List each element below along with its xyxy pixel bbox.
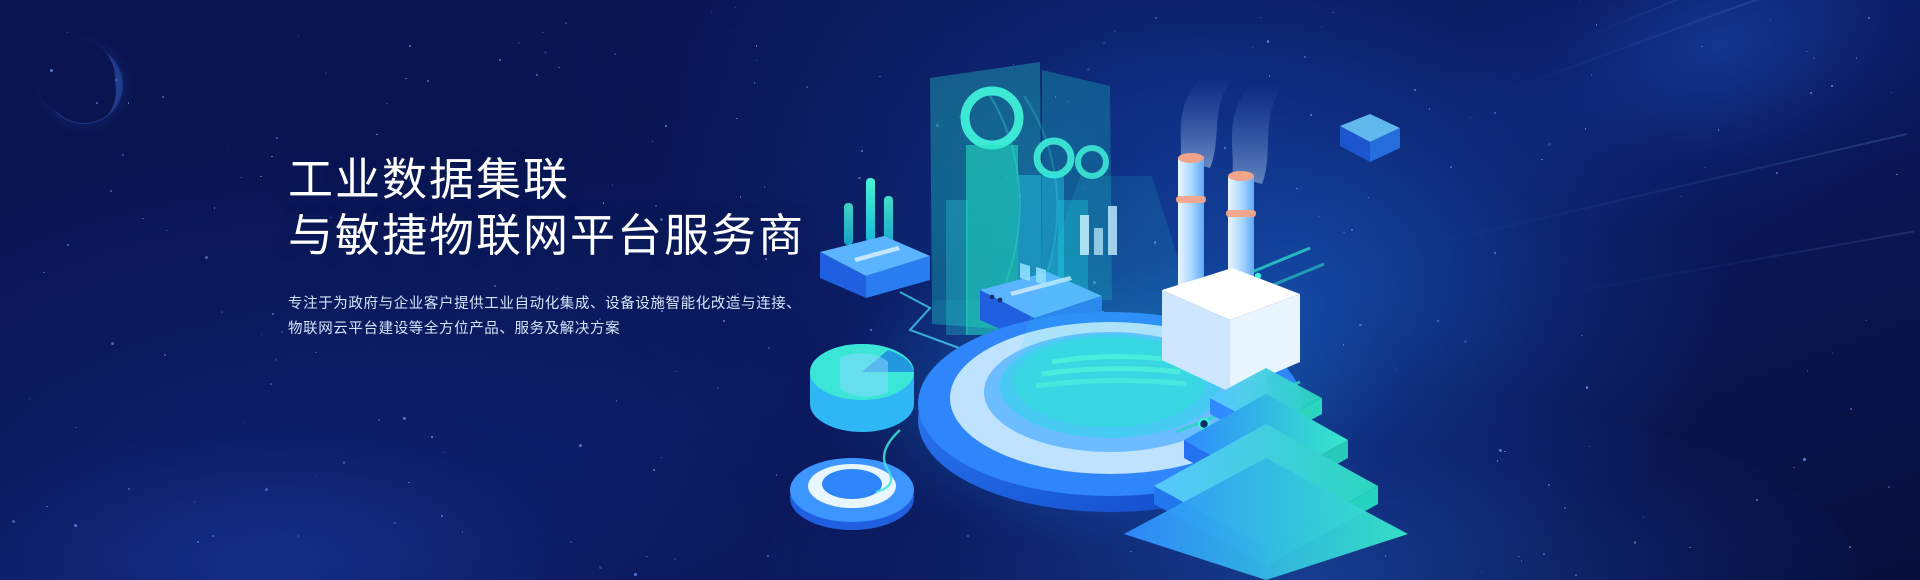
page-subtitle-line-2: 物联网云平台建设等全方位产品、服务及解决方案 bbox=[288, 317, 805, 342]
star bbox=[12, 520, 15, 523]
star bbox=[768, 347, 770, 349]
star bbox=[281, 331, 283, 333]
star bbox=[405, 78, 407, 80]
star bbox=[674, 558, 676, 560]
star bbox=[162, 96, 164, 98]
star bbox=[542, 32, 544, 34]
left-haze bbox=[0, 400, 640, 580]
hero-illustration bbox=[780, 0, 1920, 580]
page-title-line-2: 与敏捷物联网平台服务商 bbox=[288, 208, 805, 264]
star bbox=[128, 488, 130, 490]
star bbox=[665, 125, 667, 127]
star bbox=[111, 342, 114, 345]
star bbox=[734, 6, 736, 8]
star bbox=[325, 72, 328, 75]
star bbox=[653, 469, 655, 471]
star bbox=[614, 53, 616, 55]
star bbox=[386, 103, 388, 105]
star bbox=[221, 311, 223, 313]
star bbox=[298, 36, 300, 38]
star bbox=[717, 387, 719, 389]
star bbox=[441, 515, 443, 517]
star bbox=[756, 45, 758, 47]
star bbox=[536, 74, 539, 77]
star bbox=[212, 535, 214, 537]
star bbox=[427, 80, 429, 82]
star bbox=[616, 400, 618, 402]
star bbox=[661, 457, 663, 459]
star bbox=[730, 31, 732, 33]
star bbox=[711, 11, 713, 13]
star bbox=[67, 32, 69, 34]
star bbox=[376, 134, 378, 136]
star bbox=[164, 354, 166, 356]
star bbox=[43, 272, 45, 274]
crescent-moon-icon bbox=[45, 46, 123, 124]
star bbox=[194, 501, 196, 503]
star bbox=[754, 82, 756, 84]
star bbox=[265, 488, 268, 491]
star bbox=[499, 59, 501, 61]
star bbox=[67, 244, 69, 246]
router-device bbox=[820, 178, 930, 298]
star bbox=[646, 556, 648, 558]
star bbox=[261, 334, 263, 336]
star bbox=[675, 371, 677, 373]
cylinder-gauge bbox=[810, 344, 914, 432]
star bbox=[394, 522, 396, 524]
star bbox=[518, 42, 520, 44]
star bbox=[756, 60, 758, 62]
star bbox=[29, 398, 31, 400]
star bbox=[270, 383, 272, 385]
star bbox=[214, 207, 216, 209]
top-cube bbox=[1340, 114, 1400, 162]
star bbox=[599, 566, 602, 569]
star bbox=[378, 419, 380, 421]
star bbox=[260, 176, 262, 178]
star bbox=[570, 541, 572, 543]
star bbox=[403, 417, 406, 420]
star bbox=[558, 67, 560, 69]
star bbox=[96, 102, 98, 104]
star bbox=[776, 474, 778, 476]
ring-pedestal bbox=[790, 458, 914, 530]
star bbox=[75, 427, 77, 429]
star bbox=[579, 444, 582, 447]
star bbox=[142, 218, 144, 220]
star bbox=[275, 358, 278, 361]
hero-banner: 工业数据集联 与敏捷物联网平台服务商 专注于为政府与企业客户提供工业自动化集成、… bbox=[0, 0, 1920, 580]
star bbox=[409, 45, 411, 47]
star bbox=[240, 177, 242, 179]
star bbox=[544, 51, 547, 54]
star bbox=[652, 141, 654, 143]
star bbox=[110, 190, 112, 192]
star bbox=[205, 256, 208, 259]
star bbox=[736, 118, 738, 120]
star bbox=[128, 102, 130, 104]
star bbox=[122, 154, 124, 156]
hero-text-block: 工业数据集联 与敏捷物联网平台服务商 专注于为政府与企业客户提供工业自动化集成、… bbox=[288, 152, 805, 342]
star bbox=[227, 148, 229, 150]
star bbox=[46, 506, 48, 508]
star bbox=[767, 555, 769, 557]
page-title-line-1: 工业数据集联 bbox=[288, 152, 805, 208]
star bbox=[74, 524, 77, 527]
star bbox=[634, 573, 637, 576]
page-subtitle-line-1: 专注于为政府与企业客户提供工业自动化集成、设备设施智能化改造与连接、 bbox=[288, 292, 805, 317]
star bbox=[272, 313, 274, 315]
star bbox=[276, 137, 278, 139]
star bbox=[166, 230, 168, 232]
star bbox=[565, 22, 567, 24]
star bbox=[431, 436, 433, 438]
star bbox=[271, 156, 273, 158]
factory-chimneys bbox=[1162, 78, 1300, 392]
star bbox=[315, 352, 317, 354]
